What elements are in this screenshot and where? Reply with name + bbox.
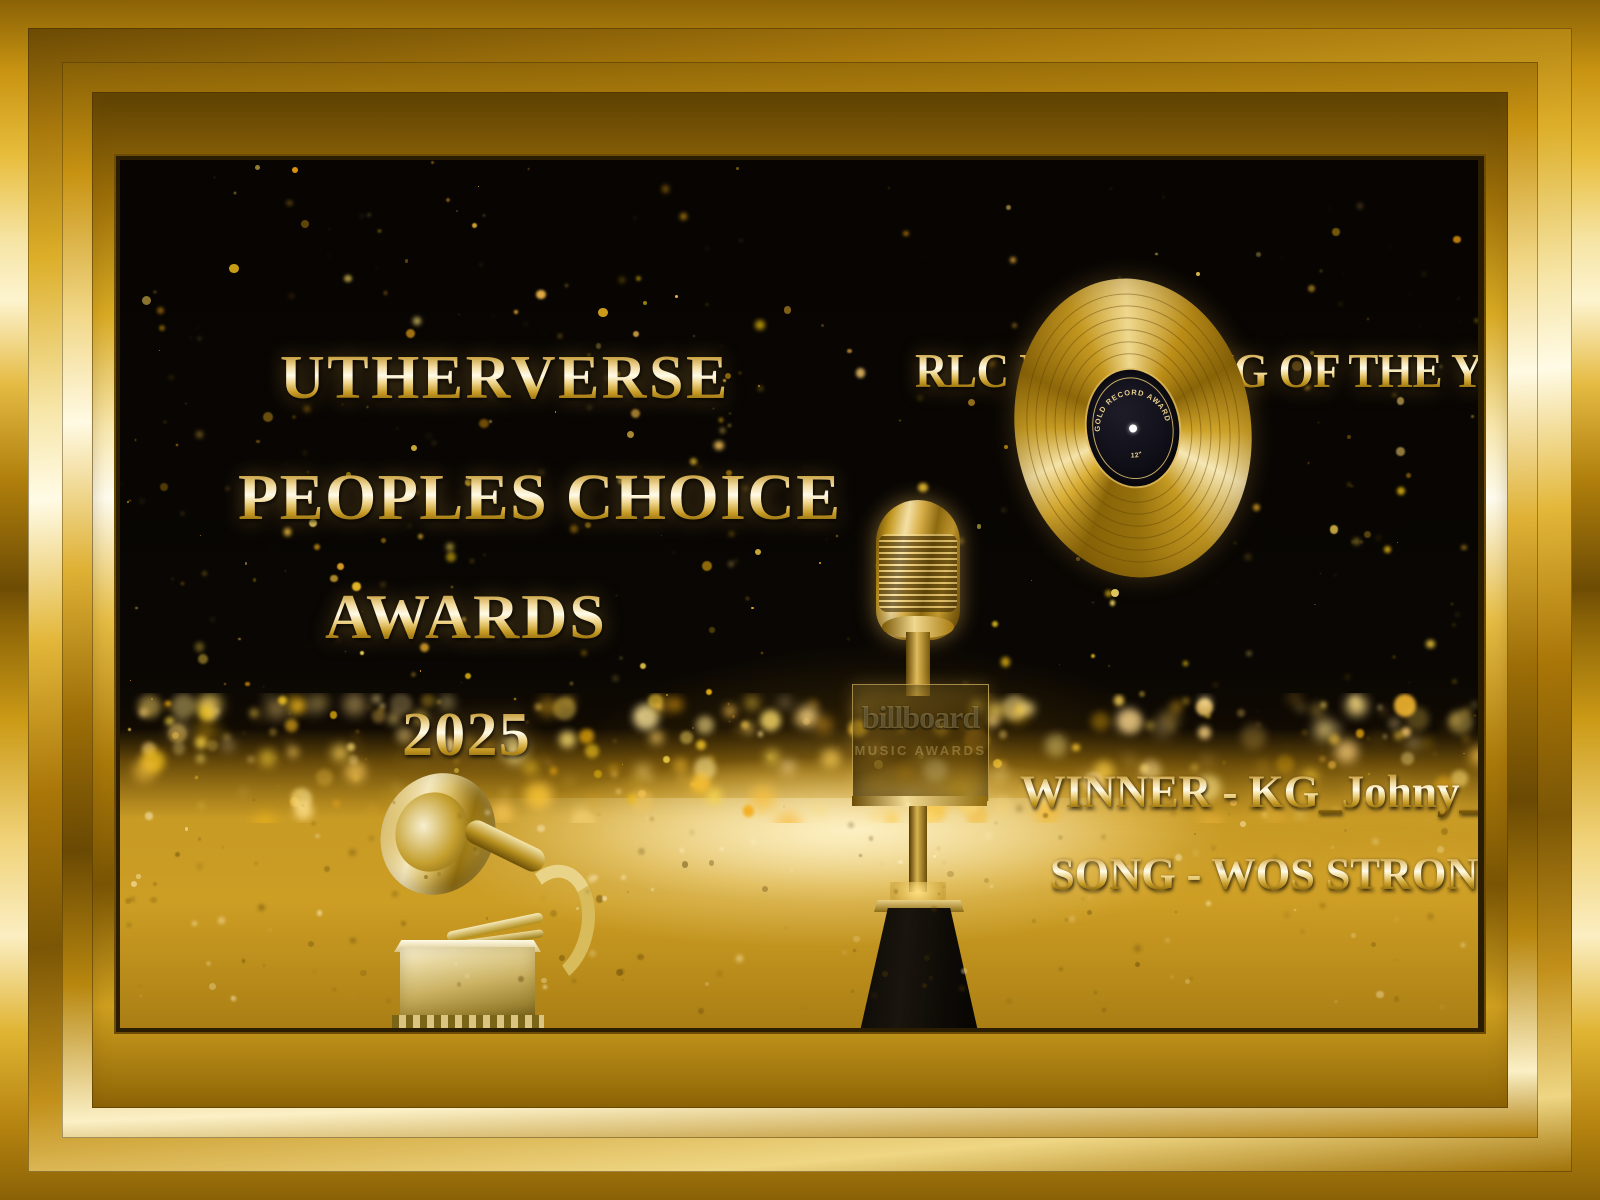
award-poster: UTHERVERSE PEOPLES CHOICE AWARDS 2025 RL… <box>120 160 1478 1028</box>
title-line-year: 2025 <box>402 700 531 771</box>
title-line-utherverse: UTHERVERSE <box>280 343 730 414</box>
trophy-stem <box>909 806 927 892</box>
record-size-text: 12" <box>1130 451 1144 460</box>
record-label: GOLD RECORD AWARD 12" <box>1079 364 1186 493</box>
winning-song-title: SONG - WOS STRONG <box>1050 847 1478 900</box>
plaque-brand-text: billboard <box>853 699 988 736</box>
gramophone-cabinet <box>400 947 535 1019</box>
title-line-awards: AWARDS <box>325 580 607 654</box>
plaque-bottom-edge <box>852 796 987 806</box>
microphone-trophy: billboard MUSIC AWARDS <box>838 500 998 1028</box>
picture-frame: UTHERVERSE PEOPLES CHOICE AWARDS 2025 RL… <box>0 0 1600 1200</box>
trophy-plaque: billboard MUSIC AWARDS <box>852 684 989 802</box>
floor-spotlight-glow <box>120 798 1478 1028</box>
microphone-grille <box>879 534 957 612</box>
trophy-base <box>854 908 984 1028</box>
gold-record-icon: GOLD RECORD AWARD 12" <box>995 263 1270 593</box>
gramophone-trophy <box>350 772 600 1028</box>
gramophone-cabinet-base <box>392 1015 544 1028</box>
plaque-sub-text: MUSIC AWARDS <box>853 743 988 758</box>
title-line-peoples-choice: PEOPLES CHOICE <box>238 460 841 536</box>
winner-name: WINNER - KG_Johny_300_WOS <box>1020 765 1478 819</box>
